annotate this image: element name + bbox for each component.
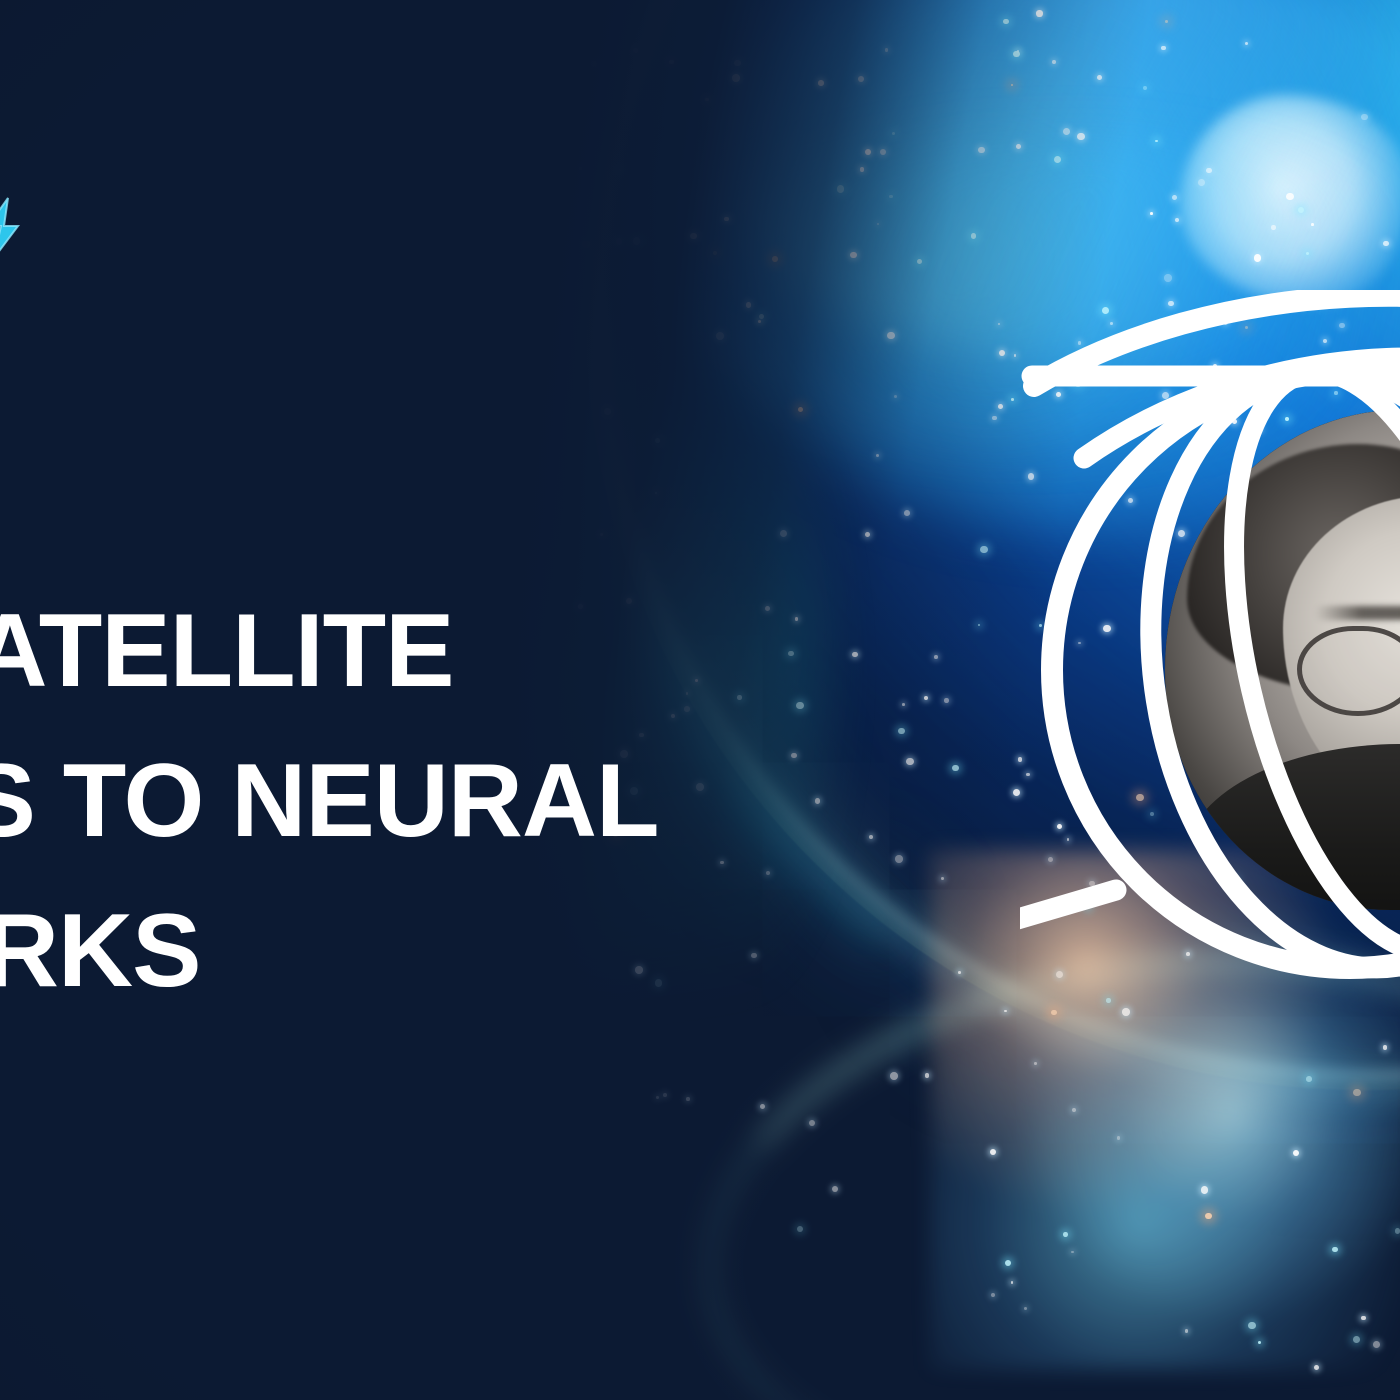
headline-line-1: SATELLITE: [0, 576, 1004, 726]
guest-badge: [1020, 290, 1400, 1030]
orbit-swoosh-logo-icon: [1020, 290, 1400, 1030]
cyan-lightning-icon: [0, 196, 30, 260]
page-title: SATELLITE LS TO NEURAL ORKS: [0, 576, 1004, 1026]
headline-line-3: ORKS: [0, 876, 1004, 1026]
headline-line-2: LS TO NEURAL: [0, 726, 1004, 876]
podcast-cover: SATELLITE LS TO NEURAL ORKS: [0, 0, 1400, 1400]
